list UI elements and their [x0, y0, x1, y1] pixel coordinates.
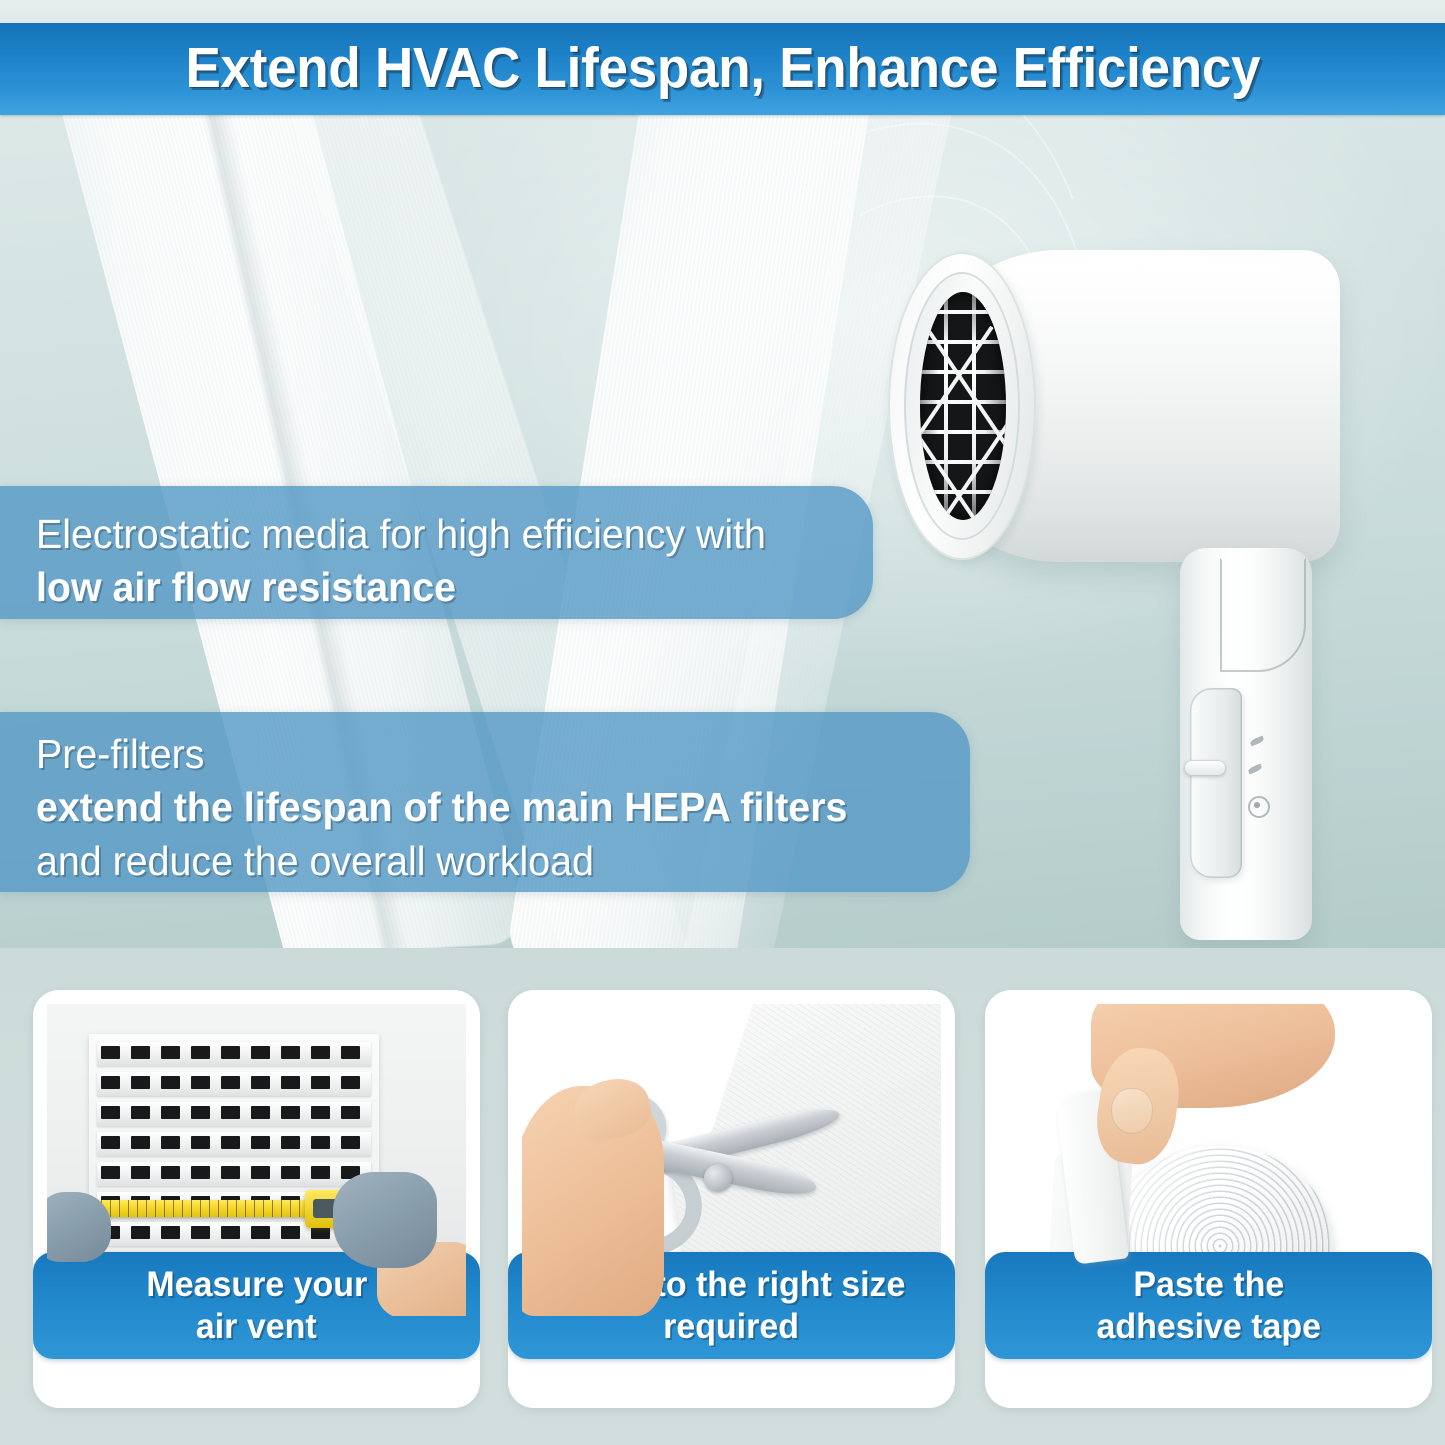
vent-slot: [101, 1106, 120, 1119]
vent-slot: [311, 1046, 330, 1059]
tape-measure-blade: [83, 1200, 319, 1217]
steps-section: Measure your air vent Cut it to the righ…: [0, 948, 1445, 1445]
vent-slot: [281, 1136, 300, 1149]
vent-slot: [251, 1106, 270, 1119]
vent-slot: [341, 1046, 360, 1059]
vent-slot: [251, 1046, 270, 1059]
hero-section: Electrostatic media for high efficiency …: [0, 0, 1445, 948]
caption-line: adhesive tape: [1096, 1306, 1321, 1347]
tape-measure-ticks: [83, 1200, 319, 1217]
vent-slot: [101, 1136, 120, 1149]
vent-slot: [191, 1076, 210, 1089]
vent-slot: [311, 1076, 330, 1089]
callout-line: low air flow resistance: [36, 561, 805, 614]
vent-slot: [221, 1136, 240, 1149]
vent-slot: [341, 1076, 360, 1089]
vent-slot: [161, 1166, 180, 1179]
vent-slot: [191, 1046, 210, 1059]
grille-bar: [972, 292, 976, 520]
caption-line: air vent: [196, 1306, 317, 1347]
step-card: Paste the adhesive tape: [985, 990, 1432, 1408]
caption-line: Paste the: [1133, 1264, 1284, 1305]
handle-seam: [1220, 558, 1306, 672]
grille-bar: [920, 400, 1006, 404]
vent-slot: [161, 1106, 180, 1119]
vent-slot: [191, 1166, 210, 1179]
callout-line: extend the lifespan of the main HEPA fil…: [36, 781, 898, 834]
vent-slot: [191, 1226, 210, 1239]
scissor-pivot-screw: [704, 1164, 732, 1192]
vent-slot: [281, 1226, 300, 1239]
ion-indicator-icon: [1248, 796, 1270, 818]
callout-line: Electrostatic media for high efficiency …: [36, 508, 805, 561]
vent-slot-row: [99, 1046, 369, 1059]
power-switch-knob[interactable]: [1184, 760, 1226, 776]
vent-slot: [161, 1076, 180, 1089]
callout-line: Pre-filters: [36, 728, 898, 781]
grille-bar: [944, 292, 948, 520]
vent-slot: [311, 1106, 330, 1119]
vent-slot: [191, 1106, 210, 1119]
gloved-hand-left: [47, 1192, 111, 1262]
nozzle-grille: [920, 292, 1006, 520]
vent-slot: [101, 1166, 120, 1179]
vent-slot: [131, 1136, 150, 1149]
vent-slot: [131, 1076, 150, 1089]
pre-filters-callout: Pre-filters extend the lifespan of the m…: [0, 712, 970, 892]
vent-slot: [221, 1076, 240, 1089]
infographic-page: Electrostatic media for high efficiency …: [0, 0, 1445, 1445]
vent-slot: [101, 1076, 120, 1089]
vent-slot: [311, 1136, 330, 1149]
vent-slot: [341, 1106, 360, 1119]
vent-slot-row: [99, 1076, 369, 1089]
vent-slot: [161, 1226, 180, 1239]
page-title: Extend HVAC Lifespan, Enhance Efficiency: [185, 40, 1260, 97]
vent-slot: [101, 1046, 120, 1059]
fingernail: [1111, 1088, 1153, 1134]
vent-slot: [251, 1226, 270, 1239]
callout-line: and reduce the overall workload: [36, 835, 898, 888]
vent-slot: [251, 1076, 270, 1089]
top-strip: [0, 0, 1445, 23]
vent-slot-row: [99, 1106, 369, 1119]
vent-slot: [131, 1226, 150, 1239]
vent-slot: [191, 1136, 210, 1149]
vent-slot: [221, 1106, 240, 1119]
electrostatic-media-callout: Electrostatic media for high efficiency …: [0, 486, 873, 619]
vent-slot-row: [99, 1136, 369, 1149]
vent-slot: [221, 1226, 240, 1239]
vent-slot: [251, 1166, 270, 1179]
caption-line: Measure your: [146, 1264, 367, 1305]
switch-plate[interactable]: [1190, 688, 1242, 878]
gloved-hand-right: [333, 1172, 437, 1268]
vent-slot: [161, 1136, 180, 1149]
air-vent-grille: [89, 1034, 379, 1286]
vent-slot: [281, 1076, 300, 1089]
step-caption: Paste the adhesive tape: [985, 1252, 1432, 1359]
airflow-indicator-icon: [1247, 764, 1262, 775]
caption-line: required: [664, 1306, 800, 1347]
title-banner: Extend HVAC Lifespan, Enhance Efficiency: [0, 22, 1445, 115]
vent-slot-row: [99, 1166, 369, 1179]
vent-slot: [131, 1166, 150, 1179]
vent-slot: [131, 1046, 150, 1059]
vent-slot: [281, 1046, 300, 1059]
vent-slot: [281, 1166, 300, 1179]
vent-slot: [281, 1106, 300, 1119]
barrel-highlight: [968, 260, 1328, 286]
vent-slot: [131, 1106, 150, 1119]
vent-slot: [341, 1136, 360, 1149]
step-card: Cut it to the right size required: [508, 990, 955, 1408]
vent-slot: [311, 1166, 330, 1179]
airflow-indicator-icon: [1249, 736, 1264, 747]
step-card: Measure your air vent: [33, 990, 480, 1408]
vent-slot: [251, 1136, 270, 1149]
vent-slot: [161, 1046, 180, 1059]
vent-slot: [221, 1166, 240, 1179]
vent-slot: [221, 1046, 240, 1059]
device-handle: [1180, 548, 1312, 940]
grille-bar: [920, 310, 1006, 314]
